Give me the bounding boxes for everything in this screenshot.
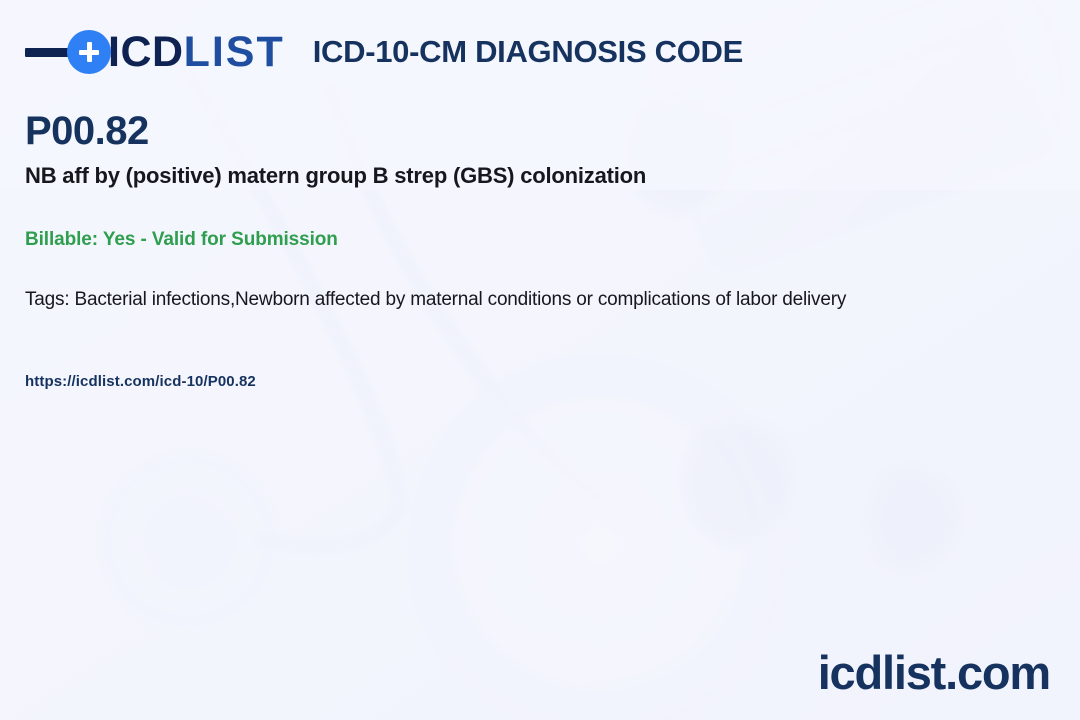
code-details: P00.82 NB aff by (positive) matern group… (25, 108, 1080, 390)
logo-wordmark: ICDLIST (108, 31, 285, 74)
page-header: ICDLIST ICD-10-CM DIAGNOSIS CODE (25, 26, 743, 78)
dash-icon (25, 48, 71, 57)
diagnosis-description: NB aff by (positive) matern group B stre… (25, 162, 1080, 190)
plus-icon (67, 30, 111, 74)
tags-list: Tags: Bacterial infections,Newborn affec… (25, 289, 1080, 311)
site-watermark: icdlist.com (818, 649, 1050, 696)
icd-code-card: ICDLIST ICD-10-CM DIAGNOSIS CODE P00.82 … (0, 0, 1080, 720)
icdlist-logo[interactable]: ICDLIST (25, 26, 285, 78)
logo-text-icd: ICD (108, 28, 184, 76)
logo-text-list: LIST (184, 28, 285, 76)
source-url[interactable]: https://icdlist.com/icd-10/P00.82 (25, 373, 1080, 390)
billable-status: Billable: Yes - Valid for Submission (25, 229, 1080, 251)
page-title: ICD-10-CM DIAGNOSIS CODE (313, 34, 743, 70)
diagnosis-code: P00.82 (25, 108, 1080, 154)
